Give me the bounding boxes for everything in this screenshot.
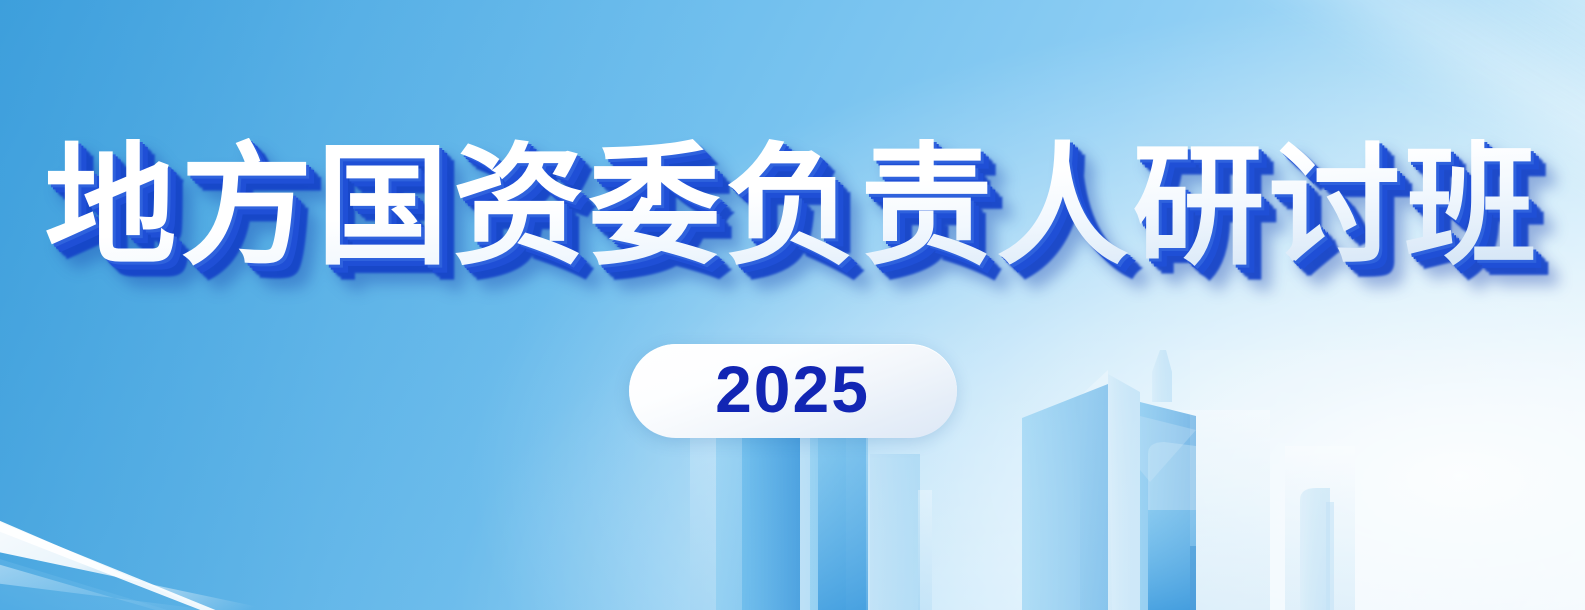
title-block: 地方国资委负责人研讨班 xyxy=(0,138,1585,278)
swoosh-ribbon-graphic xyxy=(0,430,410,610)
year-badge: 2025 xyxy=(629,344,957,438)
page-title: 地方国资委负责人研讨班 xyxy=(45,138,1541,278)
year-badge-label: 2025 xyxy=(715,356,870,422)
light-streak-top-right-icon xyxy=(1078,0,1585,154)
banner-root: 地方国资委负责人研讨班 2025 xyxy=(0,0,1585,610)
light-streak-top-right-secondary-icon xyxy=(1197,0,1585,223)
left-blue-veil xyxy=(0,0,729,610)
